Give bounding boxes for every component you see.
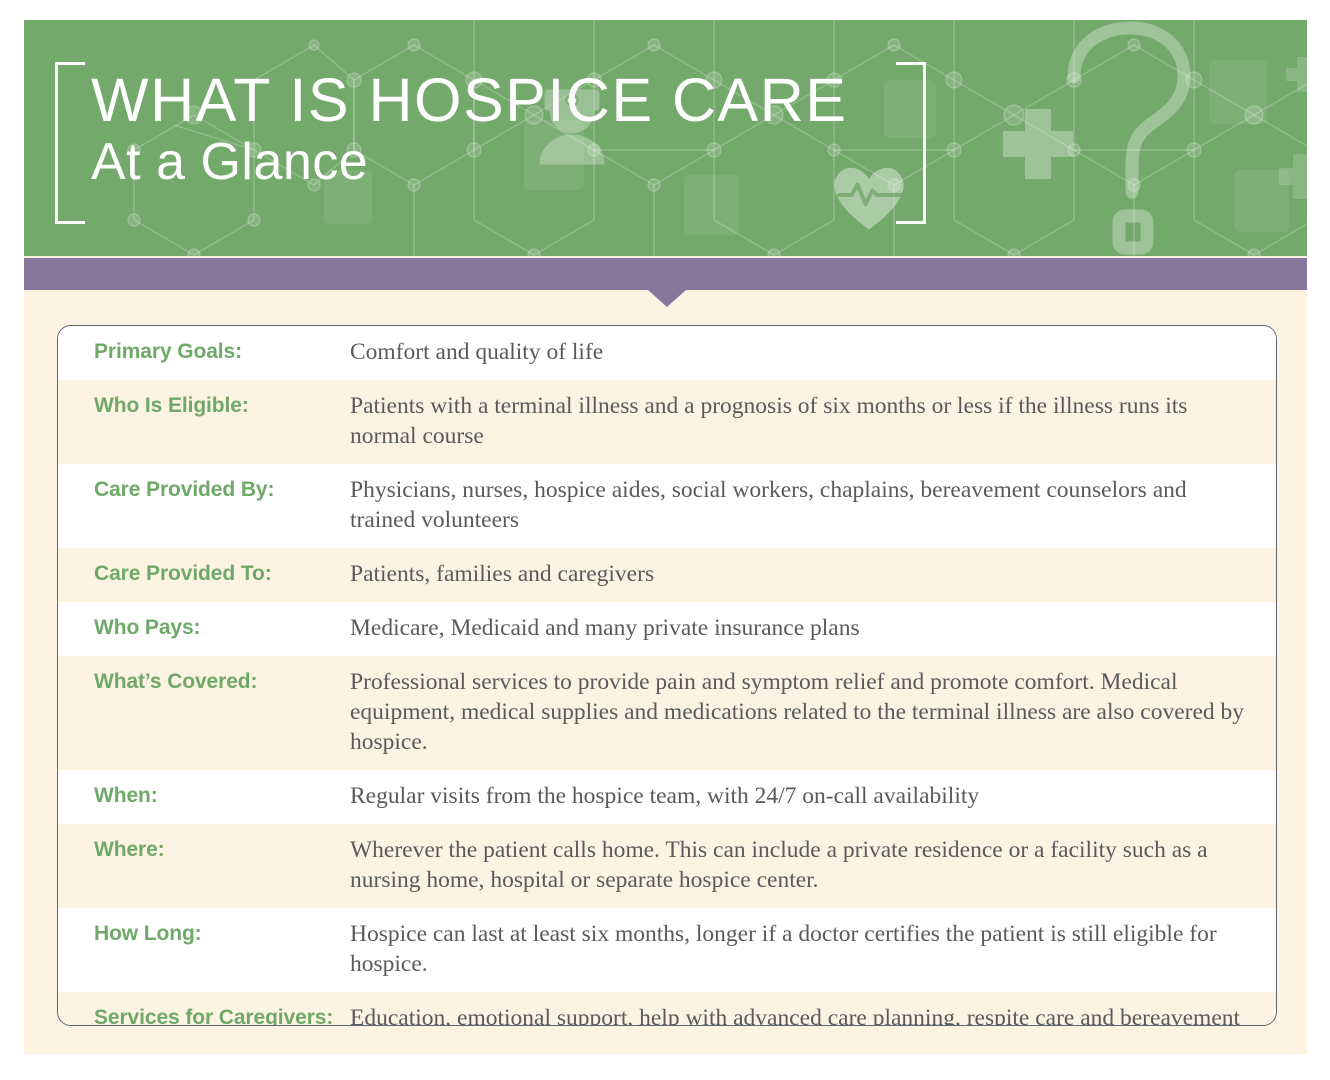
row-label: Primary Goals: [58, 337, 350, 366]
row-value: Patients with a terminal illness and a p… [350, 391, 1276, 451]
page-subtitle: At a Glance [91, 131, 847, 193]
row-label: What’s Covered: [58, 667, 350, 696]
table-row: Where:Wherever the patient calls home. T… [58, 824, 1276, 908]
row-value: Medicare, Medicaid and many private insu… [350, 613, 1276, 643]
row-value: Physicians, nurses, hospice aides, socia… [350, 475, 1276, 535]
bracket-right-decoration [896, 62, 926, 224]
table-row: Care Provided To:Patients, families and … [58, 548, 1276, 602]
accent-bar [24, 258, 1307, 290]
row-label: Care Provided By: [58, 475, 350, 504]
row-value: Education, emotional support, help with … [350, 1003, 1276, 1026]
table-row: Who Pays:Medicare, Medicaid and many pri… [58, 602, 1276, 656]
bracket-left-decoration [55, 62, 85, 224]
row-value: Comfort and quality of life [350, 337, 1276, 367]
row-value: Wherever the patient calls home. This ca… [350, 835, 1276, 895]
accent-bar-notch [648, 290, 686, 307]
header-title-block: WHAT IS HOSPICE CARE At a Glance [91, 67, 847, 193]
row-label: Services for Caregivers: [58, 1003, 350, 1026]
row-value: Patients, families and caregivers [350, 559, 1276, 589]
table-row: Who Is Eligible:Patients with a terminal… [58, 380, 1276, 464]
row-label: Who Pays: [58, 613, 350, 642]
table-row: How Long:Hospice can last at least six m… [58, 908, 1276, 992]
row-label: How Long: [58, 919, 350, 948]
header-banner: WHAT IS HOSPICE CARE At a Glance [24, 20, 1307, 256]
page-title: WHAT IS HOSPICE CARE [91, 67, 847, 133]
table-row: When:Regular visits from the hospice tea… [58, 770, 1276, 824]
table-row: Services for Caregivers:Education, emoti… [58, 992, 1276, 1026]
row-value: Regular visits from the hospice team, wi… [350, 781, 1276, 811]
row-label: Who Is Eligible: [58, 391, 350, 420]
table-row: Care Provided By:Physicians, nurses, hos… [58, 464, 1276, 548]
row-label: Where: [58, 835, 350, 864]
info-table-card: Primary Goals:Comfort and quality of lif… [57, 325, 1277, 1026]
row-value: Professional services to provide pain an… [350, 667, 1276, 757]
row-label: When: [58, 781, 350, 810]
table-row: Primary Goals:Comfort and quality of lif… [58, 326, 1276, 380]
row-value: Hospice can last at least six months, lo… [350, 919, 1276, 979]
table-row: What’s Covered:Professional services to … [58, 656, 1276, 770]
row-label: Care Provided To: [58, 559, 350, 588]
